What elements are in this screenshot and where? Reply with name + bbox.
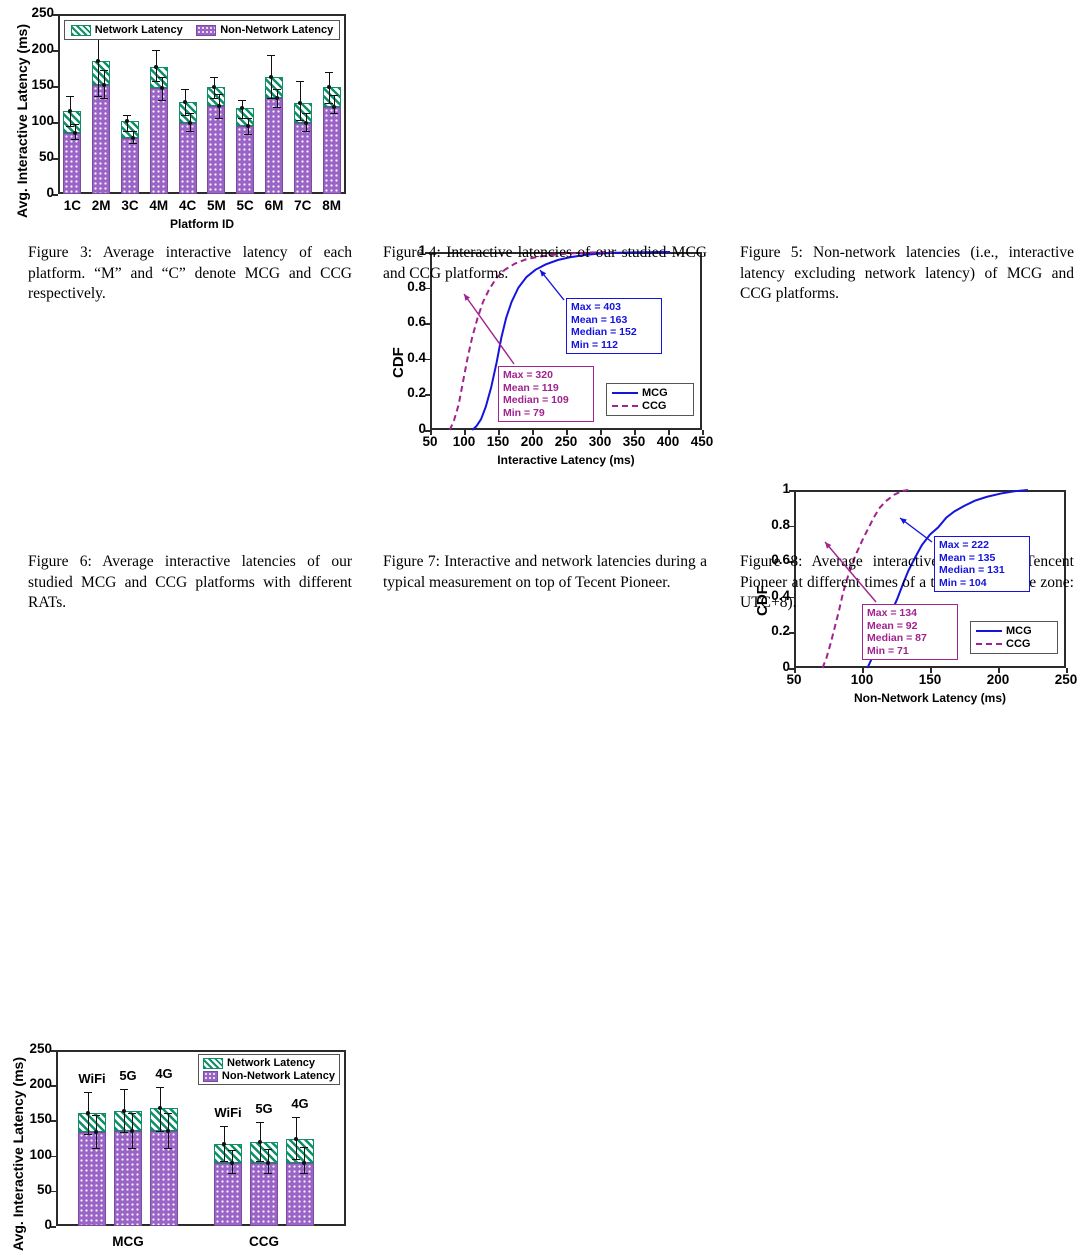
x-tick-label: 8M: [312, 198, 352, 213]
non-network-latency-segment: [265, 98, 283, 194]
non-network-latency-segment: [250, 1163, 278, 1226]
mean-marker: [122, 1109, 126, 1113]
figure-3-caption: Figure 3: Average interactive latency of…: [28, 243, 352, 305]
y-tick-mark: [51, 1156, 56, 1158]
rat-label: 4G: [142, 1066, 186, 1081]
stat-line: Max = 222: [939, 539, 1025, 552]
fig4-legend-ccg: CCG: [612, 400, 688, 412]
error-bar-cap: [296, 81, 304, 82]
mcg-line-icon: [976, 630, 1002, 632]
ccg-dashed-line-icon: [976, 643, 1002, 645]
network-latency-segment: [207, 87, 225, 106]
stats-annotation-box: Max = 320Mean = 119Median = 109Min = 79: [498, 366, 594, 422]
stat-line: Mean = 92: [867, 620, 953, 633]
mean-marker: [222, 1142, 226, 1146]
y-tick-label: 0: [18, 185, 54, 200]
stacked-bar[interactable]: [250, 1142, 278, 1226]
network-latency-segment: [63, 111, 81, 133]
stacked-bar[interactable]: [294, 103, 312, 194]
fig6-legend-non-network: Non-Network Latency: [203, 1070, 335, 1082]
error-bar-cap: [186, 131, 194, 132]
fig5-legend[interactable]: MCG CCG: [970, 621, 1058, 654]
stacked-bar[interactable]: [114, 1111, 142, 1226]
stat-line: Min = 79: [503, 407, 589, 420]
y-tick-label: 200: [18, 41, 54, 56]
network-latency-segment: [92, 61, 110, 85]
mean-marker: [131, 136, 135, 140]
mean-marker: [102, 83, 106, 87]
error-bar-cap: [71, 124, 79, 125]
network-latency-segment: [236, 108, 254, 126]
error-bar-cap: [210, 98, 218, 99]
fig4-legend[interactable]: MCG CCG: [606, 383, 694, 416]
stat-line: Mean = 119: [503, 382, 589, 395]
stat-line: Median = 152: [571, 326, 657, 339]
fig3-legend-network: Network Latency: [71, 24, 183, 36]
error-bar-cap: [228, 1150, 236, 1151]
mcg-line-icon: [612, 392, 638, 394]
y-tick-label: 0.8: [758, 517, 790, 532]
non-network-latency-segment: [323, 107, 341, 194]
mean-marker: [183, 100, 187, 104]
error-bar-cap: [302, 113, 310, 114]
y-tick-mark: [51, 1085, 56, 1087]
mean-marker: [212, 85, 216, 89]
error-bar-cap: [71, 139, 79, 140]
stat-line: Min = 71: [867, 645, 953, 658]
error-bar-cap: [66, 126, 74, 127]
stat-line: Max = 134: [867, 607, 953, 620]
error-bar: [98, 38, 99, 96]
error-bar-cap: [129, 143, 137, 144]
y-tick-label: 0.4: [394, 350, 426, 365]
network-latency-segment: [179, 102, 197, 123]
error-bar-cap: [158, 77, 166, 78]
y-tick-label: 0.2: [758, 623, 790, 638]
y-tick-label: 200: [16, 1076, 52, 1091]
network-latency-segment: [250, 1142, 278, 1163]
error-bar-cap: [120, 1089, 128, 1090]
stats-annotation-box: Max = 222Mean = 135Median = 131Min = 104: [934, 536, 1030, 592]
error-bar-cap: [220, 1126, 228, 1127]
y-tick-label: 100: [16, 1147, 52, 1162]
non-network-latency-swatch-icon: [203, 1071, 218, 1082]
fig6-legend-network: Network Latency: [203, 1057, 335, 1069]
error-bar-cap: [244, 134, 252, 135]
x-tick-label: 200: [978, 672, 1018, 687]
y-tick-mark: [51, 1191, 56, 1193]
stacked-bar[interactable]: [265, 77, 283, 194]
error-bar-cap: [92, 1115, 100, 1116]
stats-annotation-box: Max = 134Mean = 92Median = 87Min = 71: [862, 604, 958, 660]
error-bar-cap: [164, 1148, 172, 1149]
error-bar-cap: [256, 1122, 264, 1123]
fig3-legend-non-network: Non-Network Latency: [196, 24, 333, 36]
non-network-latency-segment: [63, 133, 81, 194]
group-label: CCG: [234, 1234, 294, 1249]
error-bar-cap: [156, 1131, 164, 1132]
mean-marker: [154, 65, 158, 69]
network-latency-segment: [121, 121, 139, 138]
non-network-latency-segment: [92, 85, 110, 194]
mean-marker: [294, 1137, 298, 1141]
error-bar-cap: [100, 70, 108, 71]
error-bar-cap: [181, 115, 189, 116]
error-bar-cap: [300, 1173, 308, 1174]
stat-line: Max = 320: [503, 369, 589, 382]
error-bar-cap: [267, 55, 275, 56]
fig5-legend-mcg: MCG: [976, 625, 1052, 637]
stacked-bar[interactable]: [214, 1144, 242, 1226]
y-tick-mark: [53, 14, 58, 16]
error-bar-cap: [238, 100, 246, 101]
fig6-legend[interactable]: Network Latency Non-Network Latency: [198, 1054, 340, 1085]
mean-marker: [68, 109, 72, 113]
fig4-legend-mcg: MCG: [612, 387, 688, 399]
error-bar-cap: [84, 1092, 92, 1093]
error-bar-cap: [302, 131, 310, 132]
non-network-latency-segment: [78, 1132, 106, 1226]
x-tick-label: 100: [842, 672, 882, 687]
error-bar-cap: [128, 1113, 136, 1114]
error-bar-cap: [164, 1113, 172, 1114]
stats-annotation-box: Max = 403Mean = 163Median = 152Min = 112: [566, 298, 662, 354]
mean-marker: [298, 101, 302, 105]
non-network-latency-segment: [286, 1163, 314, 1226]
stacked-bar[interactable]: [150, 67, 168, 194]
x-tick-label: 150: [910, 672, 950, 687]
non-network-latency-segment: [236, 126, 254, 194]
y-tick-label: 0.6: [394, 314, 426, 329]
x-tick-label: 250: [1046, 672, 1086, 687]
error-bar-cap: [292, 1117, 300, 1118]
non-network-latency-segment: [150, 88, 168, 194]
network-latency-swatch-icon: [203, 1058, 223, 1069]
stat-line: Median = 109: [503, 394, 589, 407]
mean-marker: [258, 1140, 262, 1144]
error-bar-cap: [273, 89, 281, 90]
y-tick-label: 150: [16, 1111, 52, 1126]
y-tick-mark: [53, 86, 58, 88]
figure-5-caption: Figure 5: Non-network latencies (i.e., i…: [740, 243, 1074, 305]
error-bar-cap: [92, 1148, 100, 1149]
y-tick-mark: [53, 158, 58, 160]
error-bar-cap: [66, 96, 74, 97]
network-latency-segment: [214, 1144, 242, 1163]
network-latency-segment: [78, 1113, 106, 1131]
error-bar-cap: [228, 1173, 236, 1174]
y-tick-label: 250: [16, 1041, 52, 1056]
non-network-latency-segment: [207, 106, 225, 194]
error-bar-cap: [181, 89, 189, 90]
y-tick-label: 1: [758, 481, 790, 496]
error-bar-cap: [94, 96, 102, 97]
network-latency-segment: [265, 77, 283, 98]
fig5-legend-ccg: CCG: [976, 638, 1052, 650]
y-tick-mark: [53, 194, 58, 196]
y-tick-mark: [53, 50, 58, 52]
non-network-latency-segment: [150, 1131, 178, 1226]
network-latency-swatch-icon: [71, 25, 91, 36]
error-bar: [334, 95, 335, 112]
error-bar-cap: [244, 118, 252, 119]
stat-line: Mean = 135: [939, 552, 1025, 565]
stat-line: Min = 112: [571, 339, 657, 352]
fig3-legend[interactable]: Network Latency Non-Network Latency: [64, 20, 340, 40]
error-bar-cap: [325, 103, 333, 104]
error-bar-cap: [215, 94, 223, 95]
y-tick-label: 100: [18, 113, 54, 128]
stat-line: Min = 104: [939, 577, 1025, 590]
figure-3-chart: Avg. Interactive Latency (ms) Platform I…: [0, 0, 360, 238]
error-bar-cap: [128, 1148, 136, 1149]
error-bar-cap: [123, 115, 131, 116]
network-latency-segment: [286, 1139, 314, 1163]
ccg-dashed-line-icon: [612, 405, 638, 407]
non-network-latency-swatch-icon: [196, 25, 216, 36]
figure-6-chart: Avg. Interactive Latency (ms) 0501001502…: [0, 1036, 360, 1260]
error-bar-cap: [84, 1134, 92, 1135]
non-network-latency-segment: [294, 123, 312, 194]
y-tick-mark: [53, 122, 58, 124]
error-bar-cap: [156, 1087, 164, 1088]
y-tick-mark: [51, 1050, 56, 1052]
error-bar-cap: [215, 118, 223, 119]
error-bar-cap: [264, 1149, 272, 1150]
error-bar-cap: [273, 107, 281, 108]
error-bar-cap: [129, 131, 137, 132]
rat-label: 4G: [278, 1096, 322, 1111]
y-tick-label: 0: [16, 1217, 52, 1232]
error-bar-cap: [158, 100, 166, 101]
stacked-bar[interactable]: [92, 61, 110, 194]
error-bar-cap: [330, 95, 338, 96]
x-tick-label: 450: [682, 434, 722, 449]
y-tick-mark: [51, 1226, 56, 1228]
stacked-bar[interactable]: [286, 1139, 314, 1226]
error-bar-cap: [296, 120, 304, 121]
mean-marker: [240, 106, 244, 110]
figure-7-caption: Figure 7: Interactive and network latenc…: [383, 552, 707, 593]
y-tick-label: 0.2: [394, 385, 426, 400]
error-bar-cap: [300, 1147, 308, 1148]
x-tick-label: 50: [774, 672, 814, 687]
error-bar-cap: [152, 50, 160, 51]
figure-grid-page: Avg. Interactive Latency (ms) Platform I…: [0, 0, 1092, 630]
non-network-latency-segment: [121, 138, 139, 194]
stat-line: Median = 87: [867, 632, 953, 645]
stacked-bar[interactable]: [121, 121, 139, 194]
stacked-bar[interactable]: [150, 1108, 178, 1226]
y-tick-label: 250: [18, 5, 54, 20]
stat-line: Mean = 163: [571, 314, 657, 327]
non-network-latency-segment: [179, 123, 197, 194]
stacked-bar[interactable]: [207, 87, 225, 194]
error-bar-cap: [325, 72, 333, 73]
non-network-latency-segment: [214, 1163, 242, 1226]
fig3-x-axis-label: Platform ID: [58, 217, 346, 231]
error-bar-cap: [267, 98, 275, 99]
error-bar-cap: [210, 77, 218, 78]
mean-marker: [86, 1111, 90, 1115]
error-bar-cap: [264, 1173, 272, 1174]
fig5-x-axis-label: Non-Network Latency (ms): [794, 691, 1066, 705]
stacked-bar[interactable]: [236, 108, 254, 194]
mean-marker: [246, 124, 250, 128]
error-bar-cap: [330, 113, 338, 114]
error-bar-cap: [100, 98, 108, 99]
mean-marker: [160, 86, 164, 90]
figure-4-caption: Figure 4: Interactive latencies of our s…: [383, 243, 707, 284]
fig4-x-axis-label: Interactive Latency (ms): [430, 453, 702, 467]
figure-6-caption: Figure 6: Average interactive latencies …: [28, 552, 352, 614]
y-tick-label: 50: [18, 149, 54, 164]
group-label: MCG: [98, 1234, 158, 1249]
non-network-latency-segment: [114, 1131, 142, 1226]
y-tick-label: 50: [16, 1182, 52, 1197]
y-tick-label: 150: [18, 77, 54, 92]
error-bar-cap: [256, 1161, 264, 1162]
stacked-bar[interactable]: [78, 1113, 106, 1226]
stat-line: Median = 131: [939, 564, 1025, 577]
error-bar-cap: [292, 1159, 300, 1160]
error-bar-cap: [120, 1132, 128, 1133]
y-tick-mark: [51, 1120, 56, 1122]
error-bar-cap: [220, 1161, 228, 1162]
stat-line: Max = 403: [571, 301, 657, 314]
error-bar-cap: [186, 113, 194, 114]
error-bar-cap: [152, 81, 160, 82]
